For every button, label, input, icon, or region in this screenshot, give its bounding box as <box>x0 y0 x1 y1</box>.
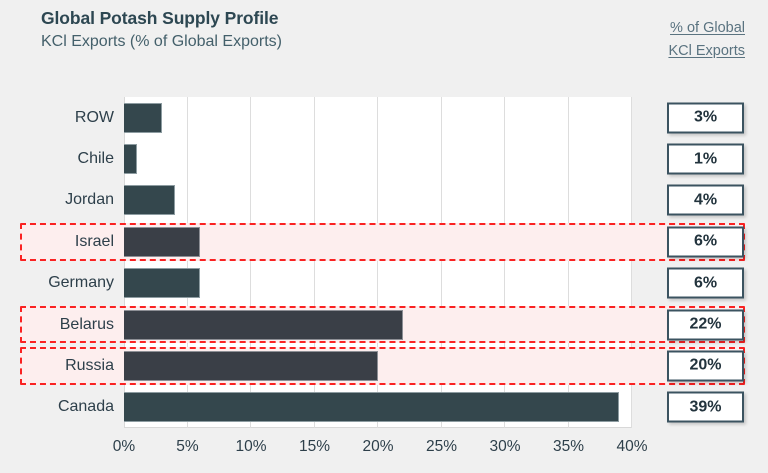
bar-container <box>124 144 137 174</box>
bar-container <box>124 185 175 215</box>
bar <box>124 227 200 257</box>
category-label: Jordan <box>0 191 114 209</box>
legend-note-line-1: % of Global <box>668 17 745 40</box>
page-title: Global Potash Supply Profile <box>41 7 282 29</box>
value-badge: 6% <box>667 226 744 257</box>
x-axis-tick-label: 25% <box>426 438 457 456</box>
bar <box>124 310 403 340</box>
value-badge: 39% <box>667 392 744 423</box>
x-axis-tick-label: 20% <box>362 438 393 456</box>
chart-row: Chile1% <box>0 138 768 179</box>
chart-row: Israel6% <box>0 221 768 262</box>
bar-container <box>124 268 200 298</box>
chart-header: Global Potash Supply Profile KCl Exports… <box>0 0 768 97</box>
chart-subtitle: KCl Exports (% of Global Exports) <box>41 31 282 53</box>
x-axis-tick-label: 35% <box>553 438 584 456</box>
x-axis-tick-label: 5% <box>176 438 198 456</box>
category-label: Russia <box>0 357 114 375</box>
x-axis: 0%5%10%15%20%25%30%35%40% <box>0 428 768 473</box>
bar-container <box>124 392 619 422</box>
chart-row: Jordan4% <box>0 180 768 221</box>
bar <box>124 103 162 133</box>
bar <box>124 351 378 381</box>
x-axis-tick-label: 15% <box>299 438 330 456</box>
bar-container <box>124 227 200 257</box>
x-axis-tick-label: 0% <box>113 438 135 456</box>
category-label: Belarus <box>0 316 114 334</box>
legend-note-line-2: KCl Exports <box>668 40 745 63</box>
bar <box>124 185 175 215</box>
chart-rows: ROW3%Chile1%Jordan4%Israel6%Germany6%Bel… <box>0 97 768 428</box>
value-badge: 4% <box>667 185 744 216</box>
legend-note: % of Global KCl Exports <box>668 17 745 63</box>
bar <box>124 392 619 422</box>
chart-row: Belarus22% <box>0 304 768 345</box>
bar-chart: ROW3%Chile1%Jordan4%Israel6%Germany6%Bel… <box>0 97 768 473</box>
value-badge: 3% <box>667 102 744 133</box>
value-badge: 6% <box>667 268 744 299</box>
category-label: Chile <box>0 150 114 168</box>
value-badge: 22% <box>667 309 744 340</box>
category-label: ROW <box>0 109 114 127</box>
x-axis-tick-label: 30% <box>489 438 520 456</box>
category-label: Germany <box>0 274 114 292</box>
x-axis-tick-label: 40% <box>616 438 647 456</box>
bar <box>124 268 200 298</box>
bar-container <box>124 103 162 133</box>
x-axis-tick-label: 10% <box>235 438 266 456</box>
chart-row: Germany6% <box>0 263 768 304</box>
bar-container <box>124 351 378 381</box>
value-badge: 1% <box>667 144 744 175</box>
bar <box>124 144 137 174</box>
category-label: Canada <box>0 398 114 416</box>
chart-row: Canada39% <box>0 387 768 428</box>
title-block: Global Potash Supply Profile KCl Exports… <box>41 7 282 53</box>
chart-row: ROW3% <box>0 97 768 138</box>
value-badge: 20% <box>667 350 744 381</box>
chart-row: Russia20% <box>0 345 768 386</box>
category-label: Israel <box>0 233 114 251</box>
bar-container <box>124 310 403 340</box>
